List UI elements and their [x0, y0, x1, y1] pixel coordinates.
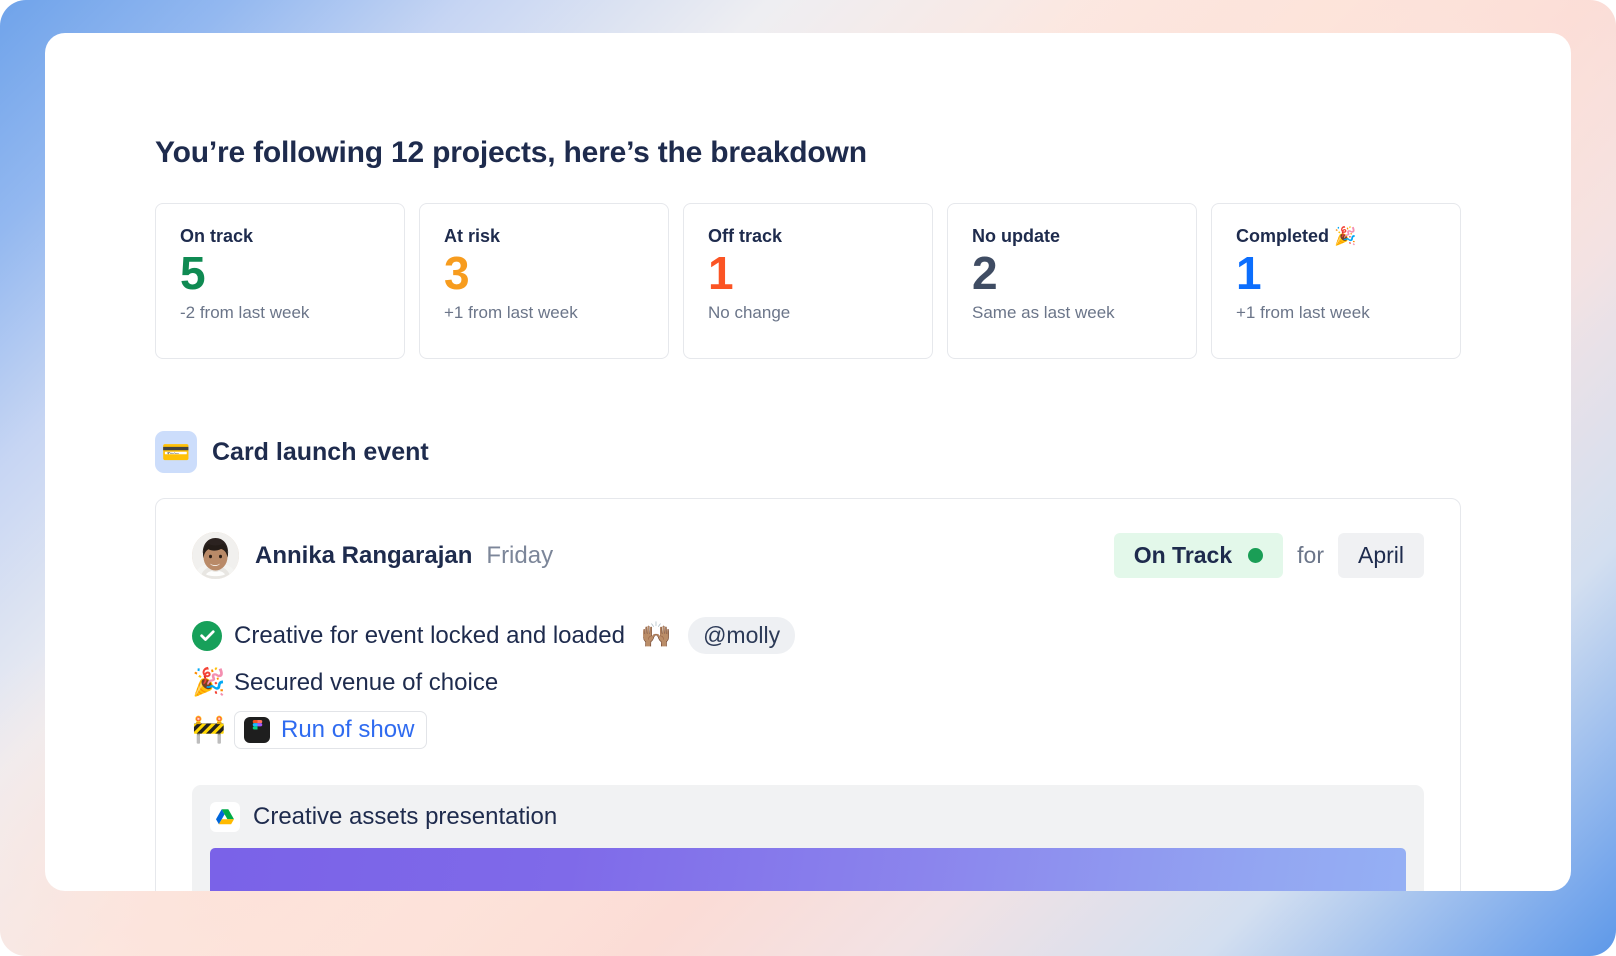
stat-delta: +1 from last week — [1236, 303, 1436, 323]
stat-card-at-risk[interactable]: At risk 3 +1 from last week — [419, 203, 669, 359]
mention-chip[interactable]: @molly — [688, 617, 795, 654]
stat-card-completed[interactable]: Completed 🎉 1 +1 from last week — [1211, 203, 1461, 359]
status-update-card: Annika Rangarajan Friday On Track for Ap… — [155, 498, 1461, 891]
stat-card-off-track[interactable]: Off track 1 No change — [683, 203, 933, 359]
for-label: for — [1297, 542, 1324, 569]
stat-card-on-track[interactable]: On track 5 -2 from last week — [155, 203, 405, 359]
stat-label: On track — [180, 226, 380, 247]
status-badge-label: On Track — [1134, 542, 1232, 569]
stat-delta: +1 from last week — [444, 303, 644, 323]
figma-link-chip[interactable]: Run of show — [234, 711, 427, 749]
status-dot-icon — [1248, 548, 1263, 563]
stat-card-no-update[interactable]: No update 2 Same as last week — [947, 203, 1197, 359]
stat-value: 1 — [708, 249, 908, 299]
party-popper-icon: 🎉 — [192, 669, 234, 696]
update-checklist: Creative for event locked and loaded 🙌🏽 … — [192, 612, 1424, 753]
page-title: You’re following 12 projects, here’s the… — [155, 136, 1461, 170]
attachment-header: Creative assets presentation — [192, 802, 1424, 848]
author-name: Annika Rangarajan — [255, 542, 472, 570]
attachment-title: Creative assets presentation — [253, 803, 557, 831]
stat-delta: No change — [708, 303, 908, 323]
checklist-item-text: Creative for event locked and loaded — [234, 622, 625, 650]
checklist-item: 🚧 Run of show — [192, 706, 1424, 753]
stat-delta: Same as last week — [972, 303, 1172, 323]
status-summary-row: On track 5 -2 from last week At risk 3 +… — [155, 203, 1461, 359]
stat-label: At risk — [444, 226, 644, 247]
update-day: Friday — [486, 542, 553, 570]
attachment-block[interactable]: Creative assets presentation — [192, 785, 1424, 891]
checklist-item: Creative for event locked and loaded 🙌🏽 … — [192, 612, 1424, 659]
stat-label: Completed 🎉 — [1236, 226, 1436, 247]
stat-value: 3 — [444, 249, 644, 299]
check-circle-icon — [192, 621, 222, 651]
stat-label: No update — [972, 226, 1172, 247]
attachment-preview[interactable] — [210, 848, 1406, 891]
status-meta: On Track for April — [1114, 533, 1424, 578]
stat-label: Off track — [708, 226, 908, 247]
figma-icon — [244, 717, 270, 743]
raised-hands-icon: 🙌🏽 — [641, 623, 672, 648]
stat-value: 5 — [180, 249, 380, 299]
status-update-header: Annika Rangarajan Friday On Track for Ap… — [192, 532, 1424, 579]
project-name: Card launch event — [212, 438, 429, 467]
stat-value: 1 — [1236, 249, 1436, 299]
credit-card-icon: 💳 — [155, 431, 197, 473]
google-drive-icon — [210, 802, 240, 832]
stat-delta: -2 from last week — [180, 303, 380, 323]
project-header[interactable]: 💳 Card launch event — [155, 431, 1461, 473]
construction-icon: 🚧 — [192, 716, 234, 743]
avatar[interactable] — [192, 532, 239, 579]
period-badge[interactable]: April — [1338, 533, 1424, 578]
figma-link-text: Run of show — [281, 716, 414, 744]
app-card: You’re following 12 projects, here’s the… — [45, 33, 1571, 891]
status-badge[interactable]: On Track — [1114, 533, 1283, 578]
stat-value: 2 — [972, 249, 1172, 299]
checklist-item-text: Secured venue of choice — [234, 669, 498, 697]
checklist-item: 🎉 Secured venue of choice — [192, 659, 1424, 706]
